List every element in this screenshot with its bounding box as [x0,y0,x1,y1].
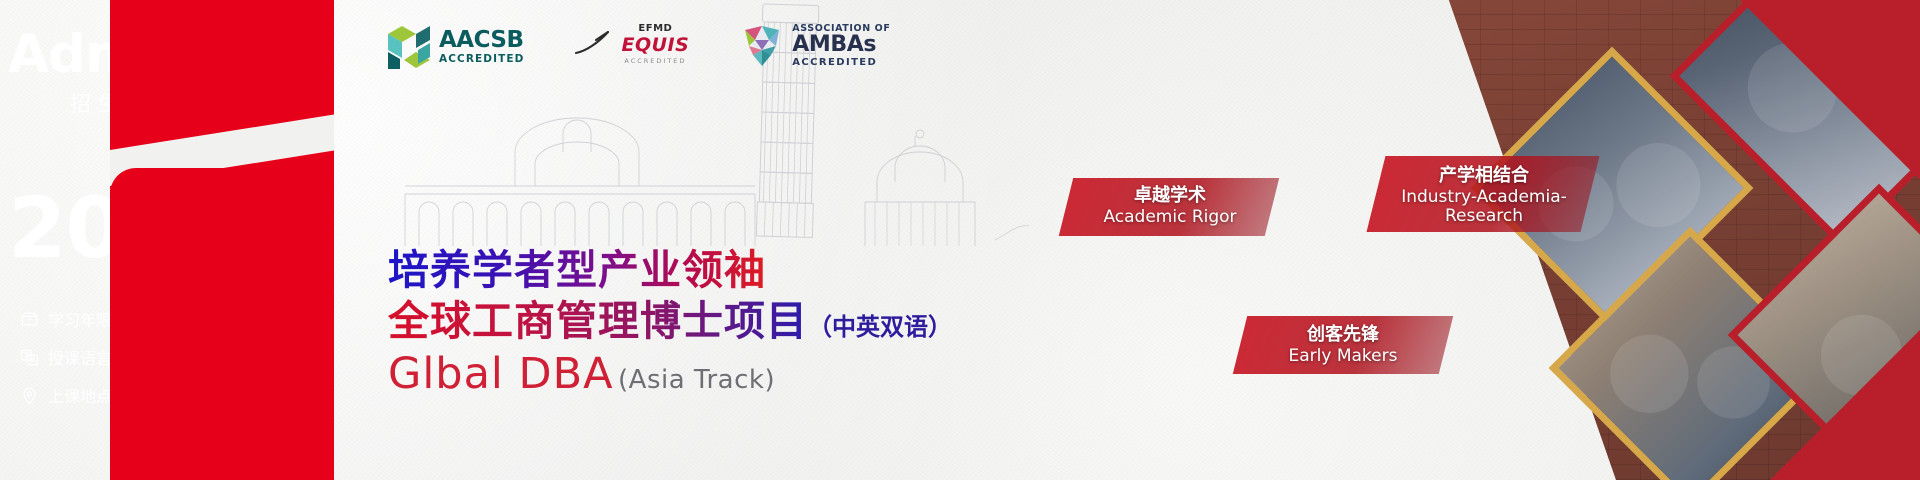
badge-academic-cn: 卓越学术 [1082,186,1258,207]
accreditation-logos: AACSB ACCREDITED EFMD EQUIS ACCREDITED [386,24,890,70]
badge-early-makers: 创客先锋 Early Makers [1255,325,1431,366]
amba-diamond-icon [739,24,785,68]
location-icon [18,384,40,406]
aacsb-text-block: AACSB ACCREDITED [439,29,524,65]
amba-text-block: ASSOCIATION OF AMBAs ACCREDITED [792,24,890,68]
program-name-cn: 全球工商管理博士项目 [388,297,808,345]
panel-shape-lower [110,168,334,480]
program-track-note: (Asia Track) [618,365,775,395]
efmd-label: EFMD [638,24,672,34]
figure-shape [1610,335,1688,413]
efmd-swoosh-icon [574,29,614,59]
aacsb-name: AACSB [439,29,524,52]
photo-collage [1160,0,1920,480]
figure-shape [1616,143,1700,227]
equis-text-block: EFMD EQUIS ACCREDITED [621,24,689,65]
badge-academic-rigor: 卓越学术 Academic Rigor [1082,186,1258,227]
equis-status: ACCREDITED [624,58,686,65]
corner-accent-top-right [1740,0,1920,180]
badge-industry-cn: 产学相结合 [1392,166,1576,187]
program-bilingual-note: （中英双语） [808,313,952,341]
aacsb-status: ACCREDITED [439,54,524,65]
headline-program-en: Glbal DBA (Asia Track) [388,353,952,396]
left-red-panel [110,0,334,480]
aacsb-logo: AACSB ACCREDITED [386,24,524,70]
badge-industry-academia: 产学相结合 Industry-Academia-Research [1392,166,1576,227]
amba-name: AMBAs [792,34,890,56]
badge-industry-en: Industry-Academia-Research [1392,188,1576,227]
program-name-en: Glbal DBA [388,349,614,399]
badge-makers-en: Early Makers [1255,347,1431,367]
equis-logo: EFMD EQUIS ACCREDITED [574,24,689,65]
amba-status: ACCREDITED [792,58,890,68]
amba-logo: ASSOCIATION OF AMBAs ACCREDITED [739,24,890,68]
language-icon [18,346,40,368]
badge-makers-cn: 创客先锋 [1255,325,1431,346]
aacsb-square-icon [386,24,432,70]
admission-banner: Admissi 招生动态 2025 学习年限：4年 [0,0,1920,480]
badge-academic-en: Academic Rigor [1082,208,1258,228]
headline-block: 培养学者型产业领袖 全球工商管理博士项目（中英双语） Glbal DBA (As… [388,248,952,396]
corner-accent-bottom-right [1770,330,1920,480]
book-icon [18,308,40,330]
headline-program-cn: 全球工商管理博士项目（中英双语） [388,300,952,343]
equis-name: EQUIS [621,36,689,55]
headline-tagline: 培养学者型产业领袖 [388,248,952,292]
